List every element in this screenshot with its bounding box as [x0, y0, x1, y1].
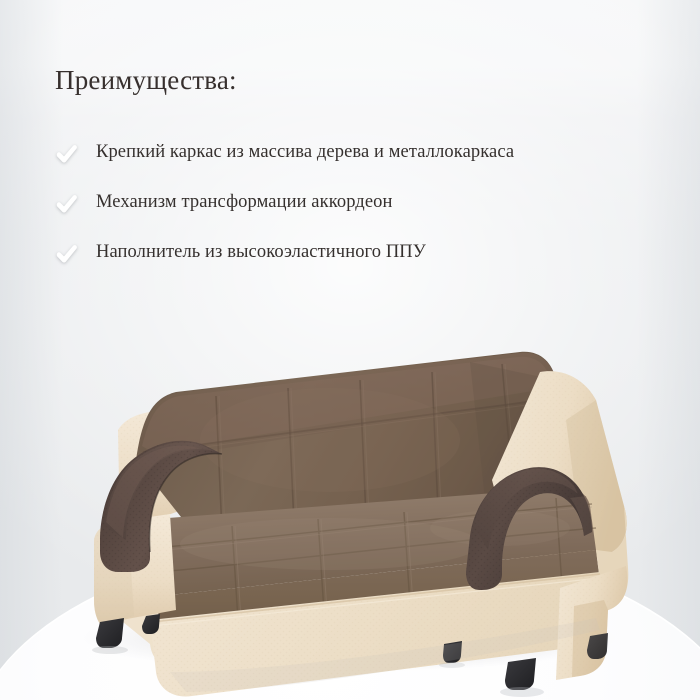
list-item: Крепкий каркас из массива дерева и метал…	[55, 139, 655, 167]
check-icon	[55, 141, 85, 167]
sofa-accordion-photo	[0, 300, 700, 700]
list-item-label: Механизм трансформации аккордеон	[85, 189, 392, 215]
list-item-label: Наполнитель из высокоэластичного ППУ	[85, 239, 426, 265]
sofa-leg-right-back	[587, 633, 608, 659]
list-item-label: Крепкий каркас из массива дерева и метал…	[85, 139, 514, 165]
list-item: Механизм трансформации аккордеон	[55, 189, 655, 217]
check-icon	[55, 241, 85, 267]
sofa-leg-left-front	[96, 618, 124, 648]
list-item: Наполнитель из высокоэластичного ППУ	[55, 239, 655, 267]
product-card-canvas: Преимущества: Крепкий каркас из массива …	[0, 0, 700, 700]
features-list: Крепкий каркас из массива дерева и метал…	[55, 139, 655, 289]
check-icon	[55, 191, 85, 217]
sofa-leg-right-front	[505, 658, 536, 690]
page-title: Преимущества:	[55, 63, 237, 97]
